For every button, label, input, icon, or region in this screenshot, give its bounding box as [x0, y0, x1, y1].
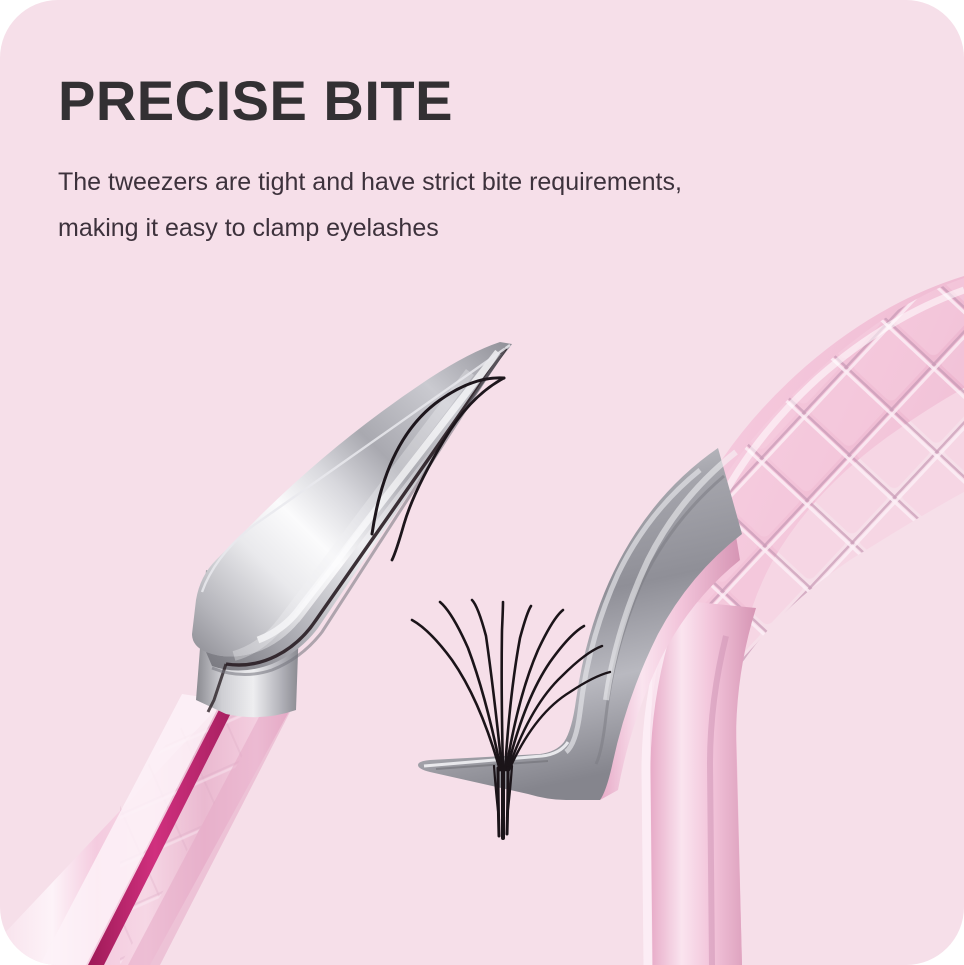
- main-steel-upper-arm: [192, 342, 512, 657]
- second-tweezer-neck: [650, 600, 756, 965]
- text-block: PRECISE BITE The tweezers are tight and …: [58, 72, 858, 251]
- subtitle-line-1: The tweezers are tight and have strict b…: [58, 159, 798, 205]
- lash-4: [502, 602, 503, 770]
- page-subtitle: The tweezers are tight and have strict b…: [58, 159, 798, 252]
- lash-3: [472, 600, 502, 770]
- subtitle-line-2: making it easy to clamp eyelashes: [58, 205, 798, 251]
- product-feature-card: PRECISE BITE The tweezers are tight and …: [0, 0, 964, 965]
- main-tweezer: [0, 342, 512, 965]
- page-title: PRECISE BITE: [58, 72, 858, 131]
